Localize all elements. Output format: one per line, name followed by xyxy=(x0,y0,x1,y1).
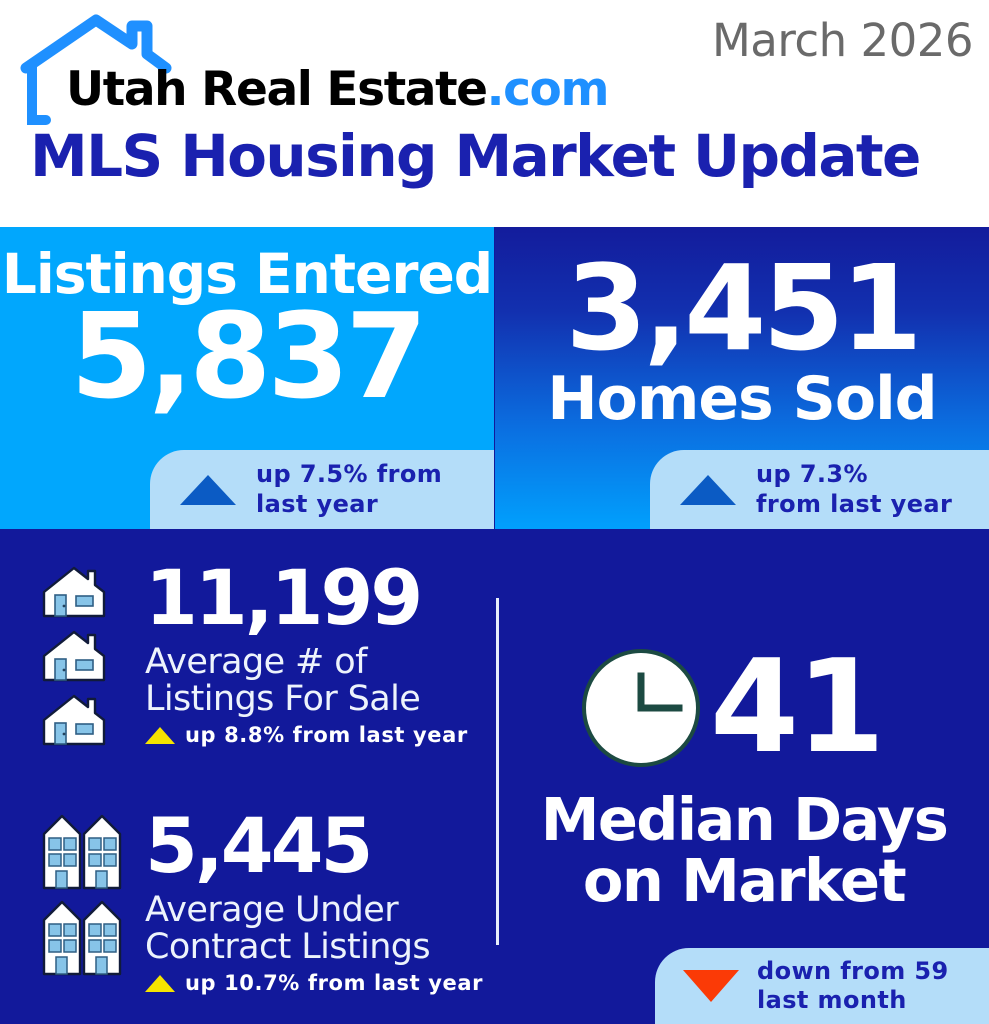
change-line-1: up 7.5% from xyxy=(256,460,442,489)
house-icon xyxy=(44,632,104,680)
triangle-down-icon xyxy=(683,970,739,1002)
under-contract-value: 5,445 xyxy=(145,808,490,884)
label-line-1: Median Days xyxy=(499,789,989,850)
duplex-icon-group xyxy=(40,812,128,987)
homes-sold-label: Homes Sold xyxy=(495,369,989,429)
desc-line-1: Average Under xyxy=(145,892,490,929)
clock-icon xyxy=(579,646,704,771)
desc-line-2: Listings For Sale xyxy=(145,681,490,718)
homes-sold-value: 3,451 xyxy=(495,249,989,367)
change-line-2: last month xyxy=(757,986,949,1015)
listings-entered-change-text: up 7.5% from last year xyxy=(256,460,442,519)
triangle-up-icon xyxy=(180,475,236,505)
change-line-1: up 7.3% xyxy=(756,460,952,489)
listings-entered-value: 5,837 xyxy=(0,297,494,415)
logo-text: Utah Real Estate.com xyxy=(66,66,608,113)
header: Utah Real Estate.com March 2026 MLS Hous… xyxy=(0,0,989,227)
duplex-icon xyxy=(44,816,120,888)
homes-sold-change-badge: up 7.3% from last year xyxy=(650,450,989,529)
listings-entered-change-badge: up 7.5% from last year xyxy=(150,450,494,529)
infographic-page: Utah Real Estate.com March 2026 MLS Hous… xyxy=(0,0,989,1024)
triangle-up-icon xyxy=(145,975,175,992)
logo[interactable]: Utah Real Estate.com xyxy=(14,8,614,123)
desc-line-2: Contract Listings xyxy=(145,929,490,966)
median-days-label: Median Days on Market xyxy=(499,789,989,912)
bottom-section: 11,199 Average # of Listings For Sale up… xyxy=(0,529,989,1024)
listings-for-sale-change-text: up 8.8% from last year xyxy=(185,723,468,747)
change-line-2: from last year xyxy=(756,490,952,519)
median-days-change-badge: down from 59 last month xyxy=(655,948,989,1024)
under-contract-desc: Average Under Contract Listings xyxy=(145,892,490,966)
change-line-1: down from 59 xyxy=(757,957,949,986)
change-line-2: last year xyxy=(256,490,442,519)
house-icon xyxy=(44,696,104,744)
triangle-up-icon xyxy=(680,475,736,505)
under-contract-change: up 10.7% from last year xyxy=(145,971,490,995)
stat-block-median-days: 41 Median Days on Market down from 59 la… xyxy=(499,529,989,1024)
house-icon xyxy=(44,568,104,616)
triangle-up-icon xyxy=(145,727,175,744)
logo-brand: Utah Real Estate xyxy=(66,62,487,117)
listings-for-sale-change: up 8.8% from last year xyxy=(145,723,490,747)
label-line-2: on Market xyxy=(499,850,989,911)
duplex-icon xyxy=(44,902,120,974)
homes-sold-change-text: up 7.3% from last year xyxy=(756,460,952,519)
house-icon-group xyxy=(40,562,108,757)
logo-dotcom: .com xyxy=(487,62,608,117)
listings-for-sale-desc: Average # of Listings For Sale xyxy=(145,644,490,718)
desc-line-1: Average # of xyxy=(145,644,490,681)
stat-panel-listings-entered: Listings Entered 5,837 up 7.5% from last… xyxy=(0,227,494,529)
date-label: March 2026 xyxy=(712,14,973,67)
page-title: MLS Housing Market Update xyxy=(30,127,920,185)
median-days-row: 41 xyxy=(579,644,882,772)
median-days-value: 41 xyxy=(710,644,882,772)
listings-for-sale-value: 11,199 xyxy=(145,560,490,636)
stat-panel-homes-sold: 3,451 Homes Sold up 7.3% from last year xyxy=(495,227,989,529)
duplex-icon-stack xyxy=(40,812,128,982)
median-days-change-text: down from 59 last month xyxy=(757,957,949,1016)
under-contract-change-text: up 10.7% from last year xyxy=(185,971,483,995)
house-icon-stack xyxy=(40,562,108,752)
